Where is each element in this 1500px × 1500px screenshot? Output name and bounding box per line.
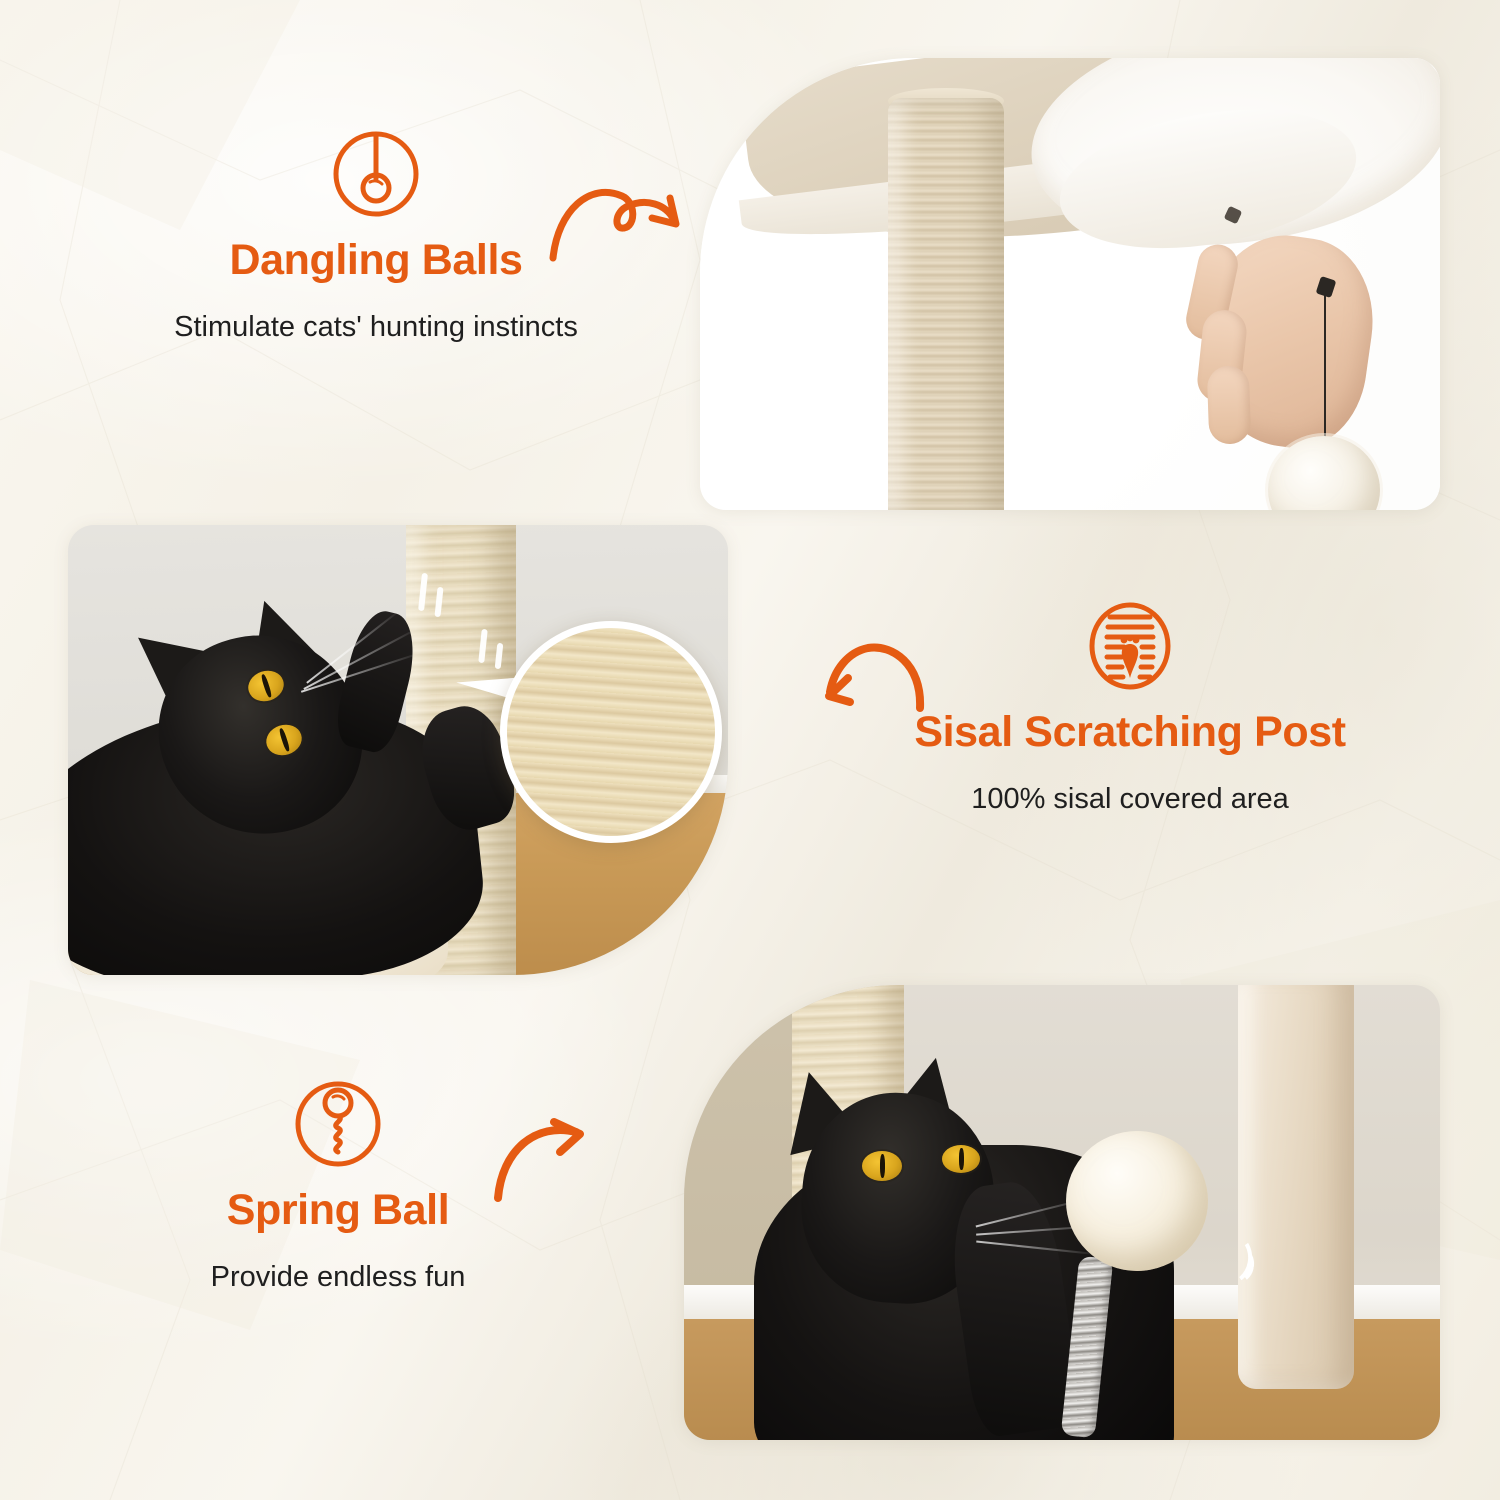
curved-arrow-right-doodle	[488, 1106, 618, 1206]
curved-arrow-left-doodle	[818, 636, 934, 718]
spring-ball-icon	[292, 1078, 384, 1170]
dangling-string	[1324, 290, 1326, 450]
feature-subtitle: 100% sisal covered area	[820, 781, 1440, 819]
feature-subtitle: Stimulate cats' hunting instincts	[86, 309, 666, 347]
sisal-post	[888, 98, 1004, 510]
cat-scratching-post-photo	[68, 525, 728, 975]
feature-subtitle: Provide endless fun	[88, 1259, 588, 1297]
sisal-post-paw-icon	[1084, 600, 1176, 692]
curly-arrow-right-doodle	[548, 168, 694, 264]
sisal-texture-magnifier-inset	[500, 621, 722, 843]
cat-eye-left	[862, 1151, 902, 1181]
ring-finger	[1207, 365, 1252, 444]
dangling-ball-product-photo	[700, 58, 1440, 510]
spring-ball-play-photo	[684, 985, 1440, 1440]
cat-eye-right	[942, 1145, 980, 1173]
dangling-ball-icon	[330, 128, 422, 220]
pom-pom-ball	[1066, 1131, 1208, 1271]
plush-wrapped-post	[1238, 985, 1354, 1389]
